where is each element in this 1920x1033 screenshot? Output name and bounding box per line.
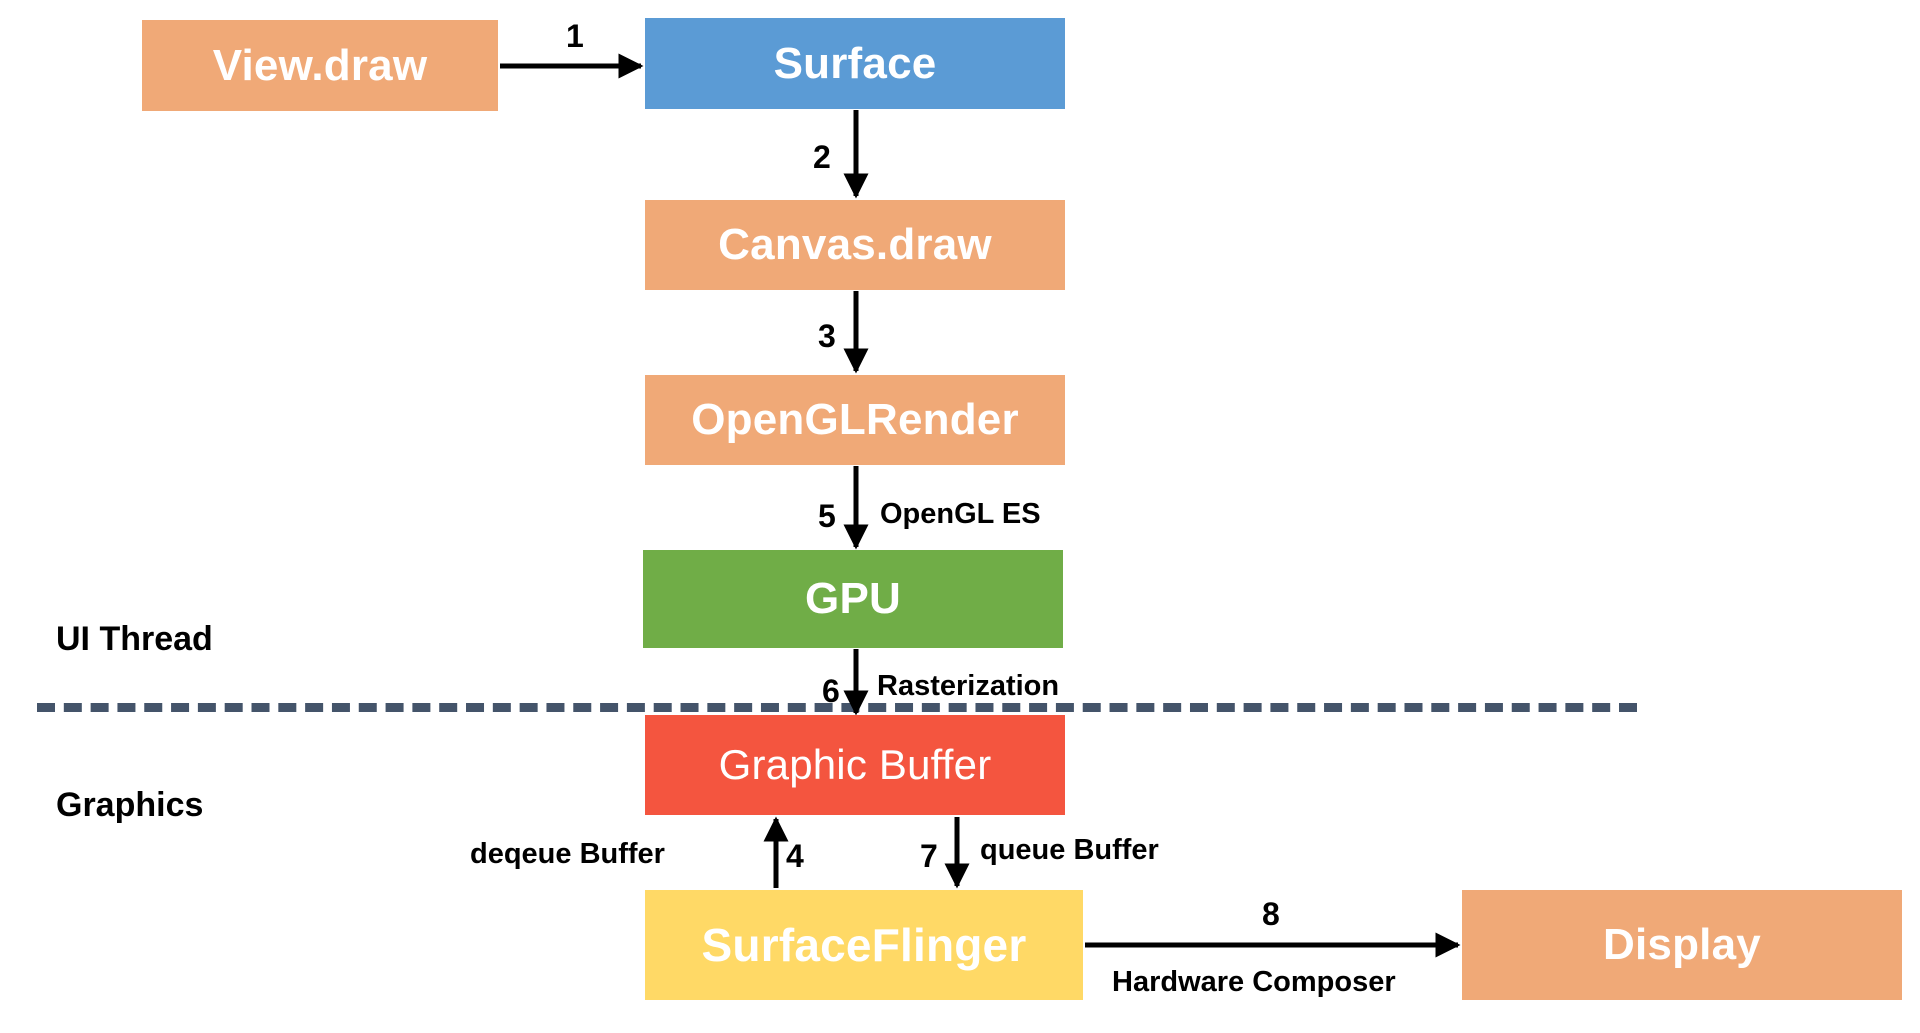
node-surface-label: Surface	[774, 42, 937, 86]
edge-label-step-1: 1	[566, 20, 584, 52]
node-opengl-render-label: OpenGLRender	[691, 398, 1019, 442]
node-canvas-draw[interactable]: Canvas.draw	[645, 200, 1065, 290]
edge-label-step-5: 5	[818, 500, 836, 532]
node-graphic-buffer-label: Graphic Buffer	[719, 744, 992, 786]
edge-label-step-4: 4	[786, 840, 804, 872]
edge-label-step-7: 7	[920, 840, 938, 872]
edge-label-step-3: 3	[818, 320, 836, 352]
node-graphic-buffer[interactable]: Graphic Buffer	[645, 715, 1065, 815]
diagram-canvas: View.draw Surface Canvas.draw OpenGLRend…	[0, 0, 1920, 1033]
node-gpu-label: GPU	[805, 577, 901, 621]
node-gpu[interactable]: GPU	[643, 550, 1063, 648]
node-display-label: Display	[1603, 923, 1761, 967]
node-opengl-render[interactable]: OpenGLRender	[645, 375, 1065, 465]
node-canvas-draw-label: Canvas.draw	[718, 223, 992, 267]
edge-caption-hardware-composer: Hardware Composer	[1112, 968, 1396, 997]
edge-label-step-2: 2	[813, 141, 831, 173]
edge-label-step-8: 8	[1262, 898, 1280, 930]
edge-caption-rasterization: Rasterization	[877, 672, 1059, 701]
node-view-draw[interactable]: View.draw	[142, 20, 498, 111]
section-label-graphics: Graphics	[56, 788, 203, 822]
node-surface[interactable]: Surface	[645, 18, 1065, 109]
edge-caption-queue-buffer: queue Buffer	[980, 836, 1159, 865]
edge-caption-dequeue-buffer: deqeue Buffer	[470, 840, 665, 869]
section-label-ui-thread: UI Thread	[56, 622, 213, 656]
node-surface-flinger[interactable]: SurfaceFlinger	[645, 890, 1083, 1000]
node-surface-flinger-label: SurfaceFlinger	[702, 922, 1027, 968]
node-view-draw-label: View.draw	[213, 44, 428, 88]
edge-label-step-6: 6	[822, 675, 840, 707]
node-display[interactable]: Display	[1462, 890, 1902, 1000]
edge-caption-opengl-es: OpenGL ES	[880, 500, 1041, 529]
